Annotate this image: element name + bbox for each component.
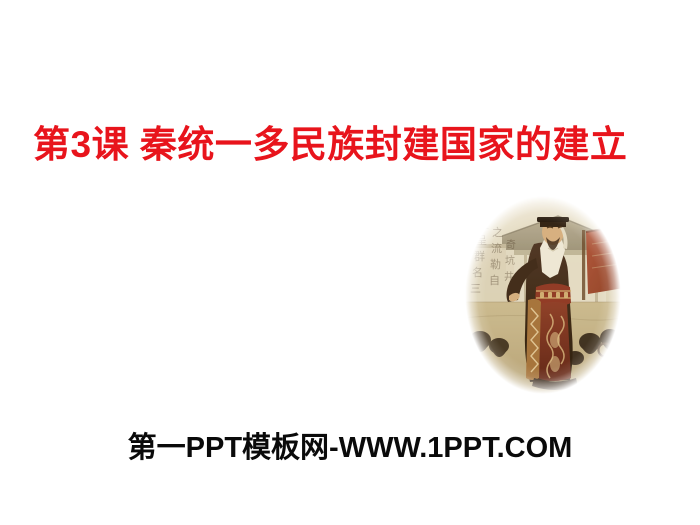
portrait-vignette: 王 呈 群 名 三 之 流 勒 自 奇 坑 井 — [462, 192, 624, 398]
presentation-slide: 第3课 秦统一多民族封建国家的建立 — [0, 0, 700, 525]
portrait-artwork: 王 呈 群 名 三 之 流 勒 自 奇 坑 井 — [462, 192, 624, 398]
page-title: 第3课 秦统一多民族封建国家的建立 — [33, 122, 673, 168]
watermark-text: 第一PPT模板网-WWW.1PPT.COM — [0, 428, 700, 468]
qin-shi-huang-portrait: 王 呈 群 名 三 之 流 勒 自 奇 坑 井 — [462, 192, 624, 398]
